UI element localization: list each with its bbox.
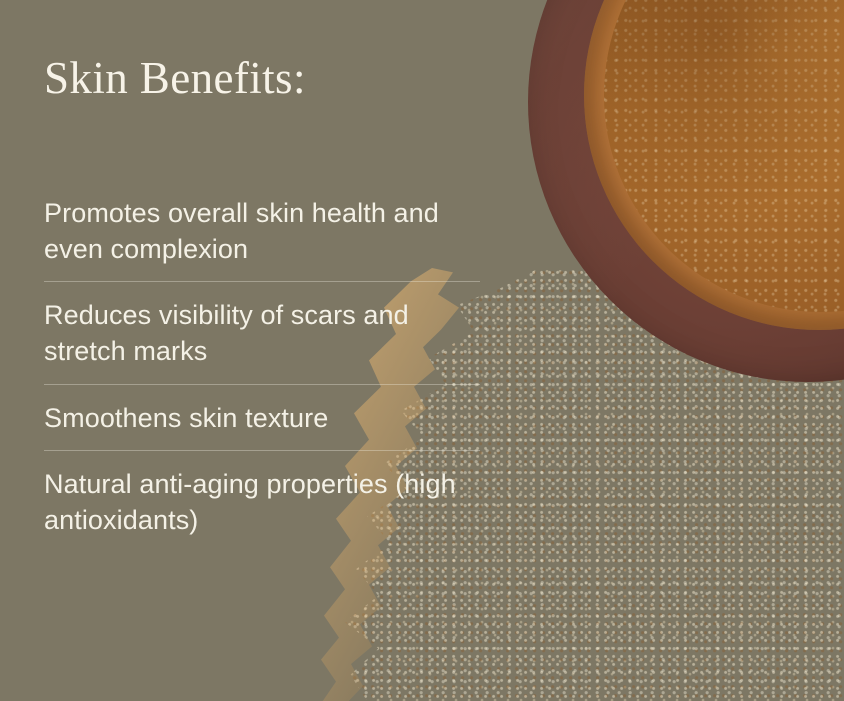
text-column: Skin Benefits: Promotes overall skin hea…	[44, 0, 484, 701]
page-title: Skin Benefits:	[44, 56, 306, 101]
bowl-fill-shadow	[604, 0, 844, 312]
list-item: Promotes overall skin health and even co…	[44, 196, 480, 282]
benefits-slide: Skin Benefits: Promotes overall skin hea…	[0, 0, 844, 701]
list-item: Reduces visibility of scars and stretch …	[44, 298, 480, 384]
bowl-gloss-highlight	[584, 0, 844, 330]
benefits-list: Promotes overall skin health and even co…	[44, 196, 484, 538]
bowl-scrub-fill	[604, 0, 844, 312]
bowl-glossy-lip	[584, 0, 844, 330]
ceramic-bowl-rim	[528, 0, 844, 382]
list-item: Natural anti-aging properties (high anti…	[44, 467, 480, 538]
list-item: Smoothens skin texture	[44, 401, 480, 452]
bowl-rim-sheen	[528, 0, 844, 382]
